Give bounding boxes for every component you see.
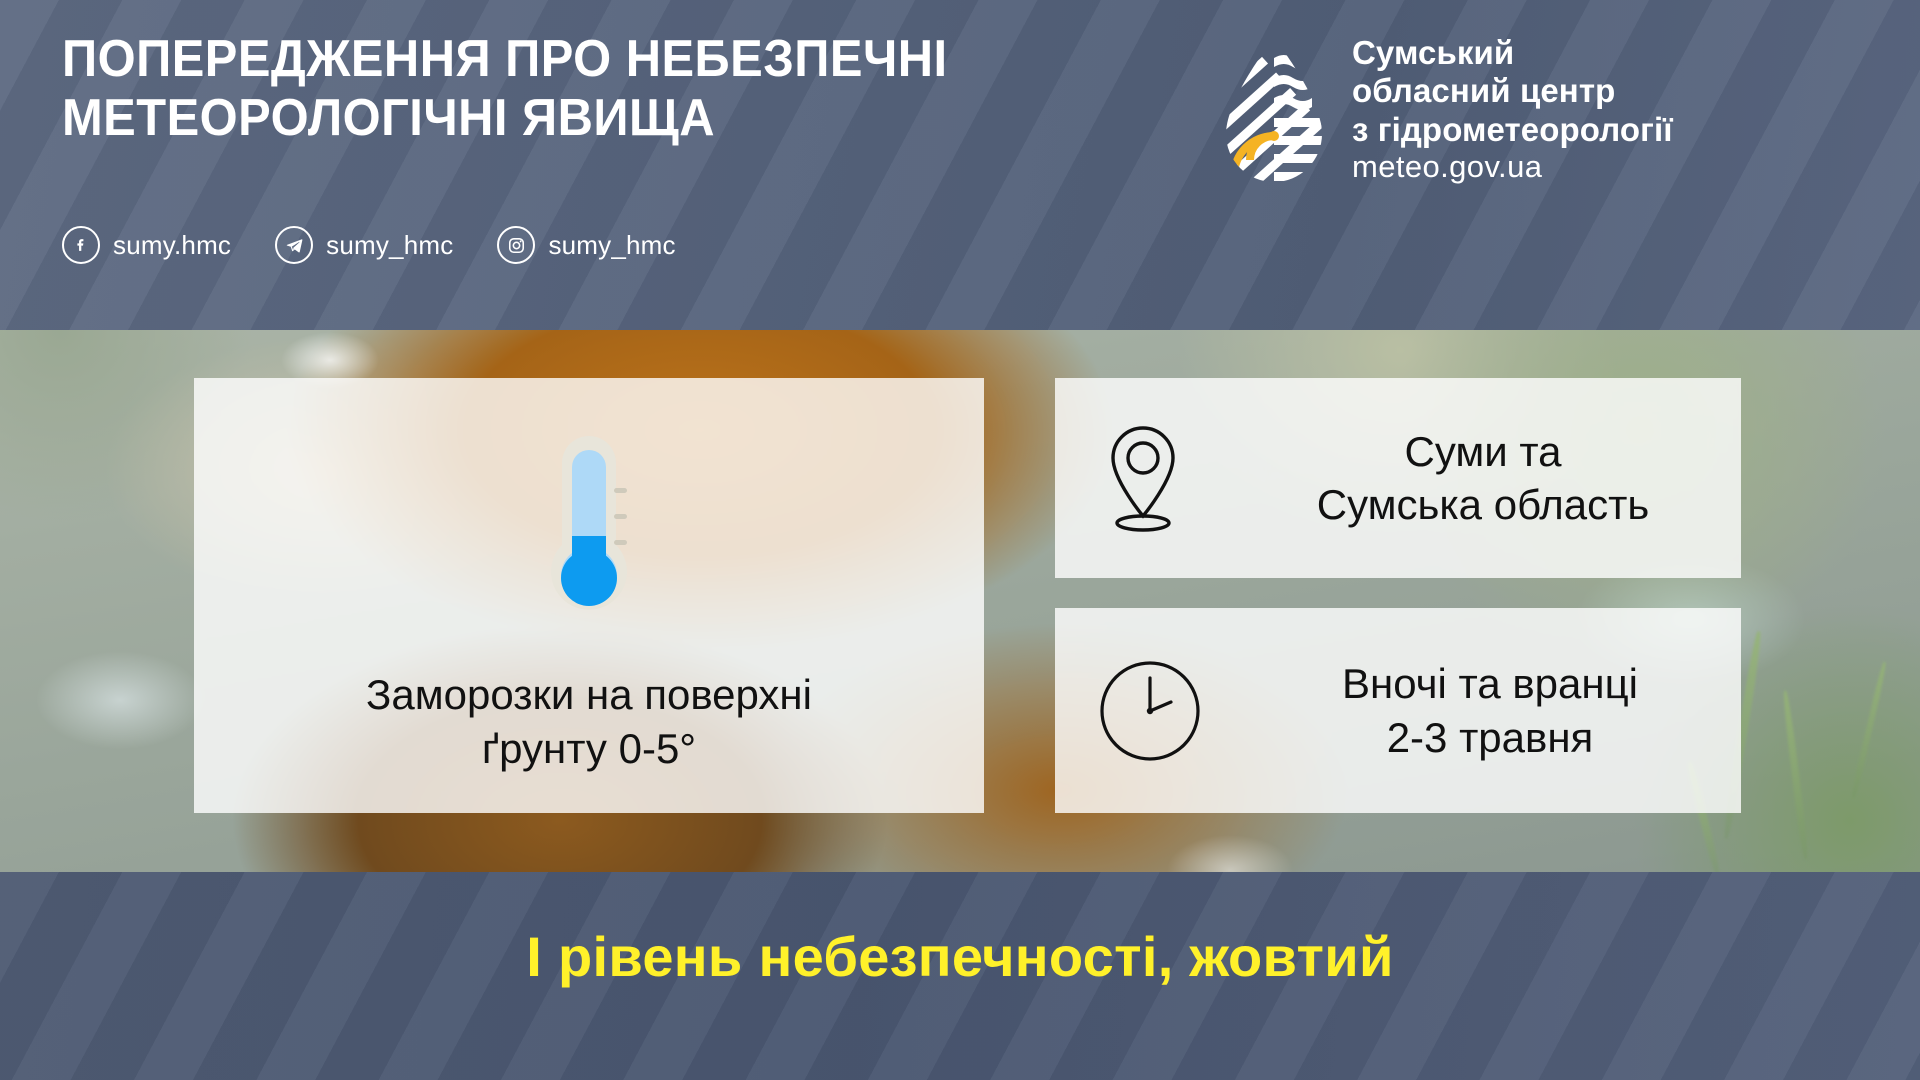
logo-text-line-1: Сумський [1352,34,1673,72]
social-link-facebook[interactable]: sumy.hmc [62,226,231,264]
page-title: ПОПЕРЕДЖЕННЯ ПРО НЕБЕЗПЕЧНІ МЕТЕОРОЛОГІЧ… [62,30,1171,148]
location-card: Суми та Сумська область [1055,378,1741,578]
location-line-2: Сумська область [1225,478,1741,531]
phenomenon-text: Заморозки на поверхні ґрунту 0-5° [194,668,984,777]
infographic-canvas: ПОПЕРЕДЖЕННЯ ПРО НЕБЕЗПЕЧНІ МЕТЕОРОЛОГІЧ… [0,0,1920,1080]
water-drop-logo-icon [1222,36,1326,188]
footer-band: І рівень небезпечності, жовтий [0,872,1920,1080]
warning-level-text: І рівень небезпечності, жовтий [0,924,1920,989]
thermometer-icon [528,426,650,636]
location-line-1: Суми та [1225,425,1741,478]
clock-icon [1097,658,1203,764]
location-text: Суми та Сумська область [1225,425,1741,532]
time-line-2: 2-3 травня [1239,711,1741,764]
social-label-facebook: sumy.hmc [113,230,231,261]
header-band: ПОПЕРЕДЖЕННЯ ПРО НЕБЕЗПЕЧНІ МЕТЕОРОЛОГІЧ… [0,0,1920,330]
instagram-icon [497,226,535,264]
page-title-line-1: ПОПЕРЕДЖЕННЯ ПРО НЕБЕЗПЕЧНІ [62,30,1171,89]
grass-blade [1782,690,1810,860]
logo-website-url[interactable]: meteo.gov.ua [1352,149,1673,185]
grass-blade [1850,661,1887,799]
facebook-icon [62,226,100,264]
logo-text: Сумський обласний центр з гідрометеороло… [1352,34,1673,185]
page-title-line-2: МЕТЕОРОЛОГІЧНІ ЯВИЩА [62,89,1171,148]
time-text: Вночі та вранці 2-3 травня [1239,657,1741,764]
time-card: Вночі та вранці 2-3 травня [1055,608,1741,813]
phenomenon-line-2: ґрунту 0-5° [194,722,984,777]
logo-text-line-3: з гідрометеорології [1352,111,1673,149]
phenomenon-line-1: Заморозки на поверхні [194,668,984,723]
social-link-instagram[interactable]: sumy_hmc [497,226,675,264]
phenomenon-card: Заморозки на поверхні ґрунту 0-5° [194,378,984,813]
thermometer-icon-wrap [194,426,984,636]
organization-logo[interactable]: Сумський обласний центр з гідрометеороло… [1222,34,1673,188]
social-label-instagram: sumy_hmc [548,230,675,261]
social-label-telegram: sumy_hmc [326,230,453,261]
map-pin-icon [1097,420,1189,536]
social-links: sumy.hmc sumy_hmc sumy [62,226,676,264]
social-link-telegram[interactable]: sumy_hmc [275,226,453,264]
logo-text-line-2: обласний центр [1352,72,1673,110]
telegram-icon [275,226,313,264]
time-line-1: Вночі та вранці [1239,657,1741,710]
